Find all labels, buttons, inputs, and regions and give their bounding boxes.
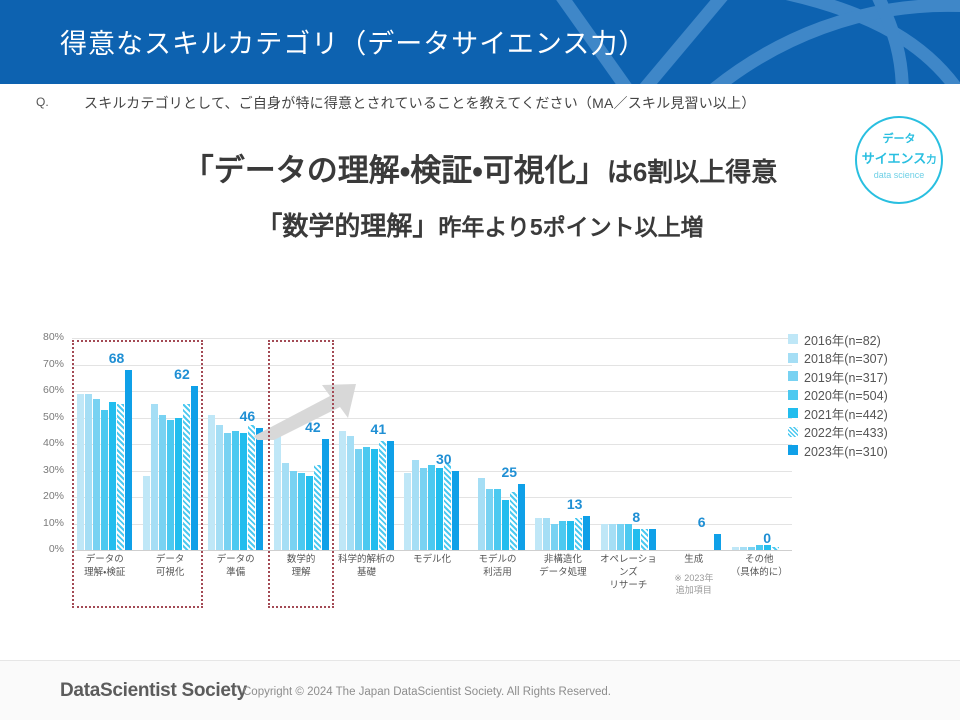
bar — [363, 447, 370, 550]
y-axis-tick: 10% — [22, 517, 64, 529]
badge-line-1: データ — [857, 130, 941, 146]
bar-value-label: 42 — [305, 419, 321, 435]
bar — [151, 404, 158, 550]
question-marker: Q. — [36, 95, 49, 109]
bar — [486, 489, 493, 550]
bars — [72, 338, 137, 550]
bar — [494, 489, 501, 550]
bars — [137, 338, 202, 550]
bar — [101, 410, 108, 550]
x-axis-label: モデルの利活用 — [465, 554, 530, 610]
bar — [772, 547, 779, 550]
badge-line-2: サイエンス力 — [857, 148, 941, 167]
bar — [535, 518, 542, 550]
x-axis-label: 科学的解析の基礎 — [334, 554, 399, 610]
y-axis-tick: 0% — [22, 543, 64, 555]
bar-group: 46 — [203, 338, 268, 550]
data-science-badge: データ サイエンス力 data science — [855, 116, 943, 204]
legend-label: 2022年(n=433) — [804, 422, 888, 441]
bar — [117, 404, 124, 550]
bar — [551, 524, 558, 551]
bar — [452, 471, 459, 551]
bar — [641, 529, 648, 550]
bar — [387, 441, 394, 550]
bar-value-label: 25 — [501, 464, 517, 480]
bar — [740, 547, 747, 550]
headline-2-tail: 昨年より5ポイント以上増 — [438, 214, 703, 240]
bar-group: 62 — [137, 338, 202, 550]
bar — [601, 524, 608, 551]
brand-name: DataScientist Society — [60, 680, 247, 702]
bar-value-label: 13 — [567, 496, 583, 512]
x-axis-label: 数学的理解 — [268, 554, 333, 610]
bars — [465, 338, 530, 550]
bar — [125, 370, 132, 550]
legend-item[interactable]: 2016年(n=82) — [788, 330, 948, 349]
bar — [609, 524, 616, 551]
bar — [412, 460, 419, 550]
legend-item[interactable]: 2022年(n=433) — [788, 423, 948, 442]
bar — [583, 516, 590, 550]
y-axis-tick: 20% — [22, 490, 64, 502]
bar — [714, 534, 721, 550]
bar-value-label: 30 — [436, 451, 452, 467]
headline-1-tail: は6割以上得意 — [607, 157, 777, 187]
legend-label: 2018年(n=307) — [804, 348, 888, 367]
legend-label: 2019年(n=317) — [804, 367, 888, 386]
x-axis-label-line: データの — [72, 554, 137, 567]
bar — [649, 529, 656, 550]
x-axis-label: オペレーションズリサーチ — [596, 554, 661, 610]
bar — [143, 476, 150, 550]
x-axis-label: 生成※ 2023年追加項目 — [661, 554, 726, 610]
bar — [109, 402, 116, 550]
bar — [543, 518, 550, 550]
legend-swatch — [788, 353, 798, 363]
bars — [530, 338, 595, 550]
x-axis-label-line: データ — [137, 554, 202, 567]
x-axis-label: データの理解・検証 — [72, 554, 137, 610]
x-axis-label-line: 基礎 — [334, 567, 399, 580]
bar — [379, 441, 386, 550]
x-axis-label-line: オペレーションズ — [596, 554, 661, 580]
x-axis-label-line: 数学的 — [268, 554, 333, 567]
bar — [314, 465, 321, 550]
legend-item[interactable]: 2018年(n=307) — [788, 349, 948, 368]
y-axis-labels: 80%70%60%50%40%30%20%10%0% — [18, 338, 64, 550]
x-axis-label-line: 可視化 — [137, 567, 202, 580]
x-axis-label-line: 理解 — [268, 567, 333, 580]
bar — [322, 439, 329, 550]
x-axis-label: モデル化 — [399, 554, 464, 610]
slide: 得意なスキルカテゴリ（データサイエンス力） Q. スキルカテゴリとして、ご自身が… — [0, 0, 960, 720]
x-axis-label-line: 生成 — [661, 554, 726, 567]
x-axis-label-line: 科学的解析の — [334, 554, 399, 567]
x-axis-label-line: データの — [203, 554, 268, 567]
bar — [478, 478, 485, 550]
bar — [575, 518, 582, 550]
legend-swatch — [788, 408, 798, 418]
bar — [756, 545, 763, 550]
x-axis-label-line: リサーチ — [596, 580, 661, 593]
bar-group: 0 — [727, 338, 792, 550]
legend-swatch — [788, 334, 798, 344]
bar-group: 30 — [399, 338, 464, 550]
bar — [274, 428, 281, 550]
x-axis-label-line: その他 — [727, 554, 792, 567]
bar — [224, 433, 231, 550]
page-title: 得意なスキルカテゴリ（データサイエンス力） — [60, 22, 646, 61]
x-axis-label-line: （具体的に） — [727, 567, 792, 580]
legend-swatch — [788, 371, 798, 381]
bar — [732, 547, 739, 550]
chart-legend: 2016年(n=82)2018年(n=307)2019年(n=317)2020年… — [788, 330, 948, 460]
bar — [436, 468, 443, 550]
bar — [232, 431, 239, 550]
bar — [85, 394, 92, 550]
bar — [347, 436, 354, 550]
bar — [191, 386, 198, 550]
x-axis-label: 非構造化データ処理 — [530, 554, 595, 610]
bar-value-label: 68 — [109, 350, 125, 366]
legend-label: 2020年(n=504) — [804, 385, 888, 404]
x-axis-label-line: モデルの — [465, 554, 530, 567]
legend-swatch — [788, 390, 798, 400]
bar — [510, 492, 517, 550]
bar — [748, 547, 755, 550]
y-axis-tick: 30% — [22, 464, 64, 476]
bar — [93, 399, 100, 550]
legend-item[interactable]: 2020年(n=504) — [788, 386, 948, 405]
bar — [502, 500, 509, 550]
bar — [518, 484, 525, 550]
question-text: スキルカテゴリとして、ご自身が特に得意とされていることを教えてください（MA／ス… — [84, 93, 756, 113]
bar — [633, 529, 640, 550]
bar — [617, 524, 624, 551]
y-axis-tick: 60% — [22, 384, 64, 396]
bars — [727, 338, 792, 550]
bar — [290, 471, 297, 551]
bar — [248, 425, 255, 550]
bar-value-label: 62 — [174, 366, 190, 382]
bar-group: 8 — [596, 338, 661, 550]
x-axis-label: その他（具体的に） — [727, 554, 792, 610]
headline-line-1: 「データの理解・検証・可視化」は6割以上得意 — [0, 145, 960, 190]
x-axis-label-line: 理解・検証 — [72, 567, 137, 580]
bar — [371, 449, 378, 550]
bar-value-label: 41 — [371, 421, 387, 437]
bar-group: 6 — [661, 338, 726, 550]
bar-value-label: 0 — [763, 530, 771, 546]
bar — [306, 476, 313, 550]
bar-group: 41 — [334, 338, 399, 550]
badge-line-2-text: サイエンス — [862, 151, 927, 166]
bar — [625, 524, 632, 551]
bars — [596, 338, 661, 550]
y-axis-tick: 50% — [22, 411, 64, 423]
x-axis-label-line: 非構造化 — [530, 554, 595, 567]
question-row: Q. スキルカテゴリとして、ご自身が特に得意とされていることを教えてください（M… — [36, 93, 936, 115]
x-axis-note-line: 追加項目 — [661, 585, 726, 597]
legend-item[interactable]: 2019年(n=317) — [788, 367, 948, 386]
bars — [334, 338, 399, 550]
bar-value-label: 8 — [632, 509, 640, 525]
y-axis-tick: 80% — [22, 331, 64, 343]
bar — [167, 420, 174, 550]
gridline — [72, 550, 792, 551]
x-axis-label-line: 利活用 — [465, 567, 530, 580]
bars — [203, 338, 268, 550]
bar — [240, 433, 247, 550]
bar — [404, 473, 411, 550]
headline-line-2: 「数学的理解」昨年より5ポイント以上増 — [0, 206, 960, 243]
x-axis-label-line: モデル化 — [399, 554, 464, 567]
bar — [256, 428, 263, 550]
bar — [77, 394, 84, 550]
bar — [559, 521, 566, 550]
bar-group: 42 — [268, 338, 333, 550]
y-axis-tick: 70% — [22, 358, 64, 370]
headline-1-main: 「データの理解・検証・可視化」 — [183, 153, 607, 188]
badge-line-2-suffix: 力 — [926, 155, 936, 166]
headline-2-main: 「数学的理解」 — [256, 211, 438, 241]
legend-item[interactable]: 2021年(n=442) — [788, 404, 948, 423]
x-axis-labels: データの理解・検証データ可視化データの準備数学的理解科学的解析の基礎モデル化モデ… — [72, 554, 792, 610]
bars — [661, 338, 726, 550]
bar — [208, 415, 215, 550]
bar — [444, 463, 451, 550]
bar — [428, 465, 435, 550]
bar — [175, 418, 182, 551]
bars — [399, 338, 464, 550]
legend-item[interactable]: 2023年(n=310) — [788, 441, 948, 460]
bar-value-label: 46 — [240, 408, 256, 424]
badge-line-3: data science — [857, 170, 941, 180]
bar — [355, 449, 362, 550]
legend-swatch — [788, 427, 798, 437]
bar-group: 68 — [72, 338, 137, 550]
bar-group: 25 — [465, 338, 530, 550]
bars — [268, 338, 333, 550]
bar — [159, 415, 166, 550]
bar — [339, 431, 346, 550]
bar — [216, 425, 223, 550]
bar-value-label: 6 — [698, 514, 706, 530]
x-axis-label-line: 準備 — [203, 567, 268, 580]
x-axis-label: データ可視化 — [137, 554, 202, 610]
x-axis-note-line: ※ 2023年 — [661, 573, 726, 585]
bar — [282, 463, 289, 550]
x-axis-label-line: データ処理 — [530, 567, 595, 580]
bar — [183, 404, 190, 550]
legend-label: 2021年(n=442) — [804, 404, 888, 423]
plot-area: 6862464241302513860 — [72, 338, 792, 550]
legend-label: 2023年(n=310) — [804, 441, 888, 460]
y-axis-tick: 40% — [22, 437, 64, 449]
slide-header: 得意なスキルカテゴリ（データサイエンス力） — [0, 0, 960, 84]
bar — [567, 521, 574, 550]
bar — [420, 468, 427, 550]
legend-swatch — [788, 445, 798, 455]
copyright-text: Copyright © 2024 The Japan DataScientist… — [243, 686, 611, 698]
x-axis-label: データの準備 — [203, 554, 268, 610]
x-axis-label-note: ※ 2023年追加項目 — [661, 573, 726, 596]
bar — [298, 473, 305, 550]
legend-label: 2016年(n=82) — [804, 330, 881, 349]
bar-group: 13 — [530, 338, 595, 550]
bar-groups: 6862464241302513860 — [72, 338, 792, 550]
